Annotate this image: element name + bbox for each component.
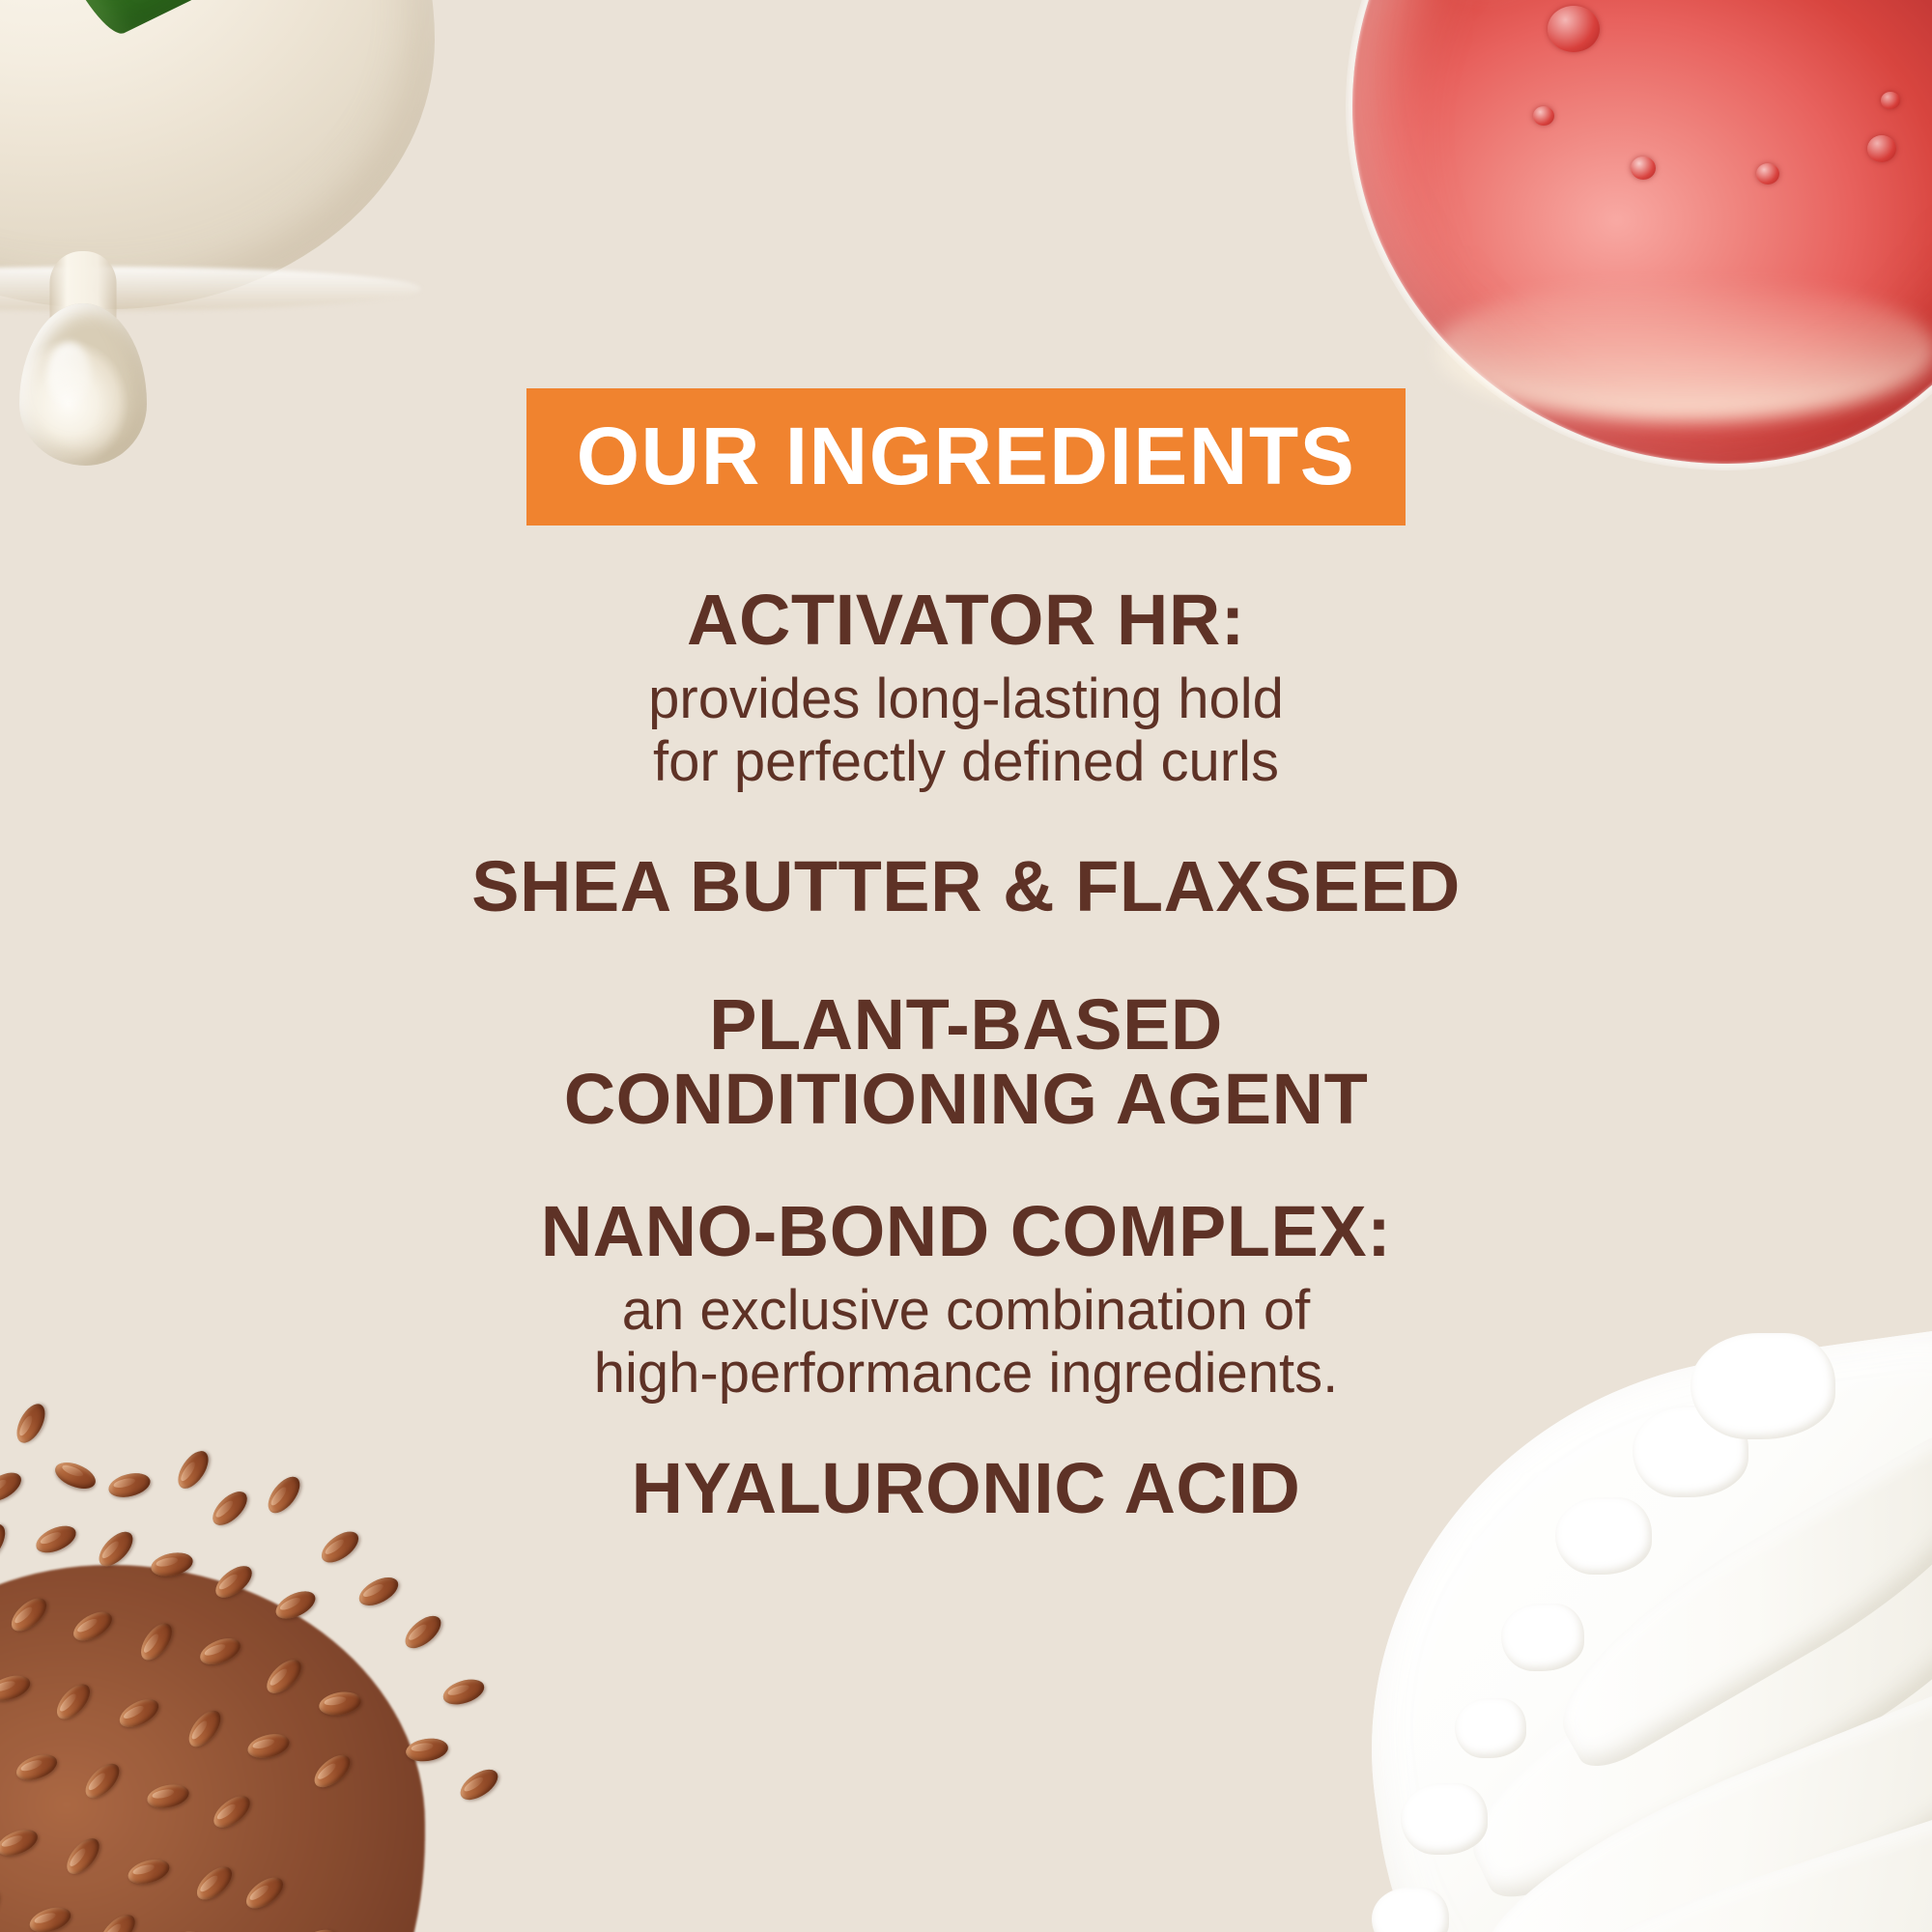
flaxseed <box>0 1671 33 1705</box>
shea-butter-crumb <box>1501 1604 1584 1671</box>
flaxseed <box>241 1871 288 1914</box>
flaxseed <box>183 1705 226 1752</box>
flaxseed <box>13 1749 60 1785</box>
shea-butter-crumb <box>1455 1698 1526 1758</box>
ingredient-description-line: for perfectly defined curls <box>0 730 1932 794</box>
flaxseed <box>209 1790 256 1833</box>
ingredient-item-hyaluronic-acid: HYALURONIC ACID <box>0 1452 1932 1526</box>
spacer <box>0 794 1932 850</box>
flaxseed <box>316 1525 363 1568</box>
flaxseed <box>79 1758 125 1804</box>
flaxseed <box>440 1675 488 1709</box>
ingredients-content: OUR INGREDIENTS ACTIVATOR HR: provides l… <box>0 0 1932 1526</box>
shea-butter-crumb <box>1372 1888 1449 1932</box>
shea-butter-swirl-shape <box>1452 1779 1932 1932</box>
flaxseed <box>261 1654 307 1699</box>
our-ingredients-banner: OUR INGREDIENTS <box>526 388 1406 526</box>
flaxseed <box>0 1885 4 1932</box>
flaxseed <box>355 1572 403 1611</box>
flaxseed <box>405 1736 450 1764</box>
ingredient-title: NANO-BOND COMPLEX: <box>0 1195 1932 1269</box>
ingredient-title-line: CONDITIONING AGENT <box>0 1063 1932 1137</box>
shea-butter-crumb <box>1401 1783 1488 1855</box>
flaxseed <box>69 1606 117 1647</box>
ingredient-title-line: PLANT-BASED <box>0 988 1932 1063</box>
flaxseed <box>149 1549 195 1580</box>
flaxseed <box>95 1909 141 1932</box>
flaxseed <box>51 1678 97 1724</box>
flaxseed <box>191 1861 238 1906</box>
ingredient-description: provides long-lasting hold for perfectly… <box>0 668 1932 794</box>
ingredient-description-line: provides long-lasting hold <box>0 668 1932 731</box>
ingredient-title: ACTIVATOR HR: <box>0 583 1932 658</box>
flaxseed <box>145 1781 191 1812</box>
ingredient-title: SHEA BUTTER & FLAXSEED <box>0 850 1932 924</box>
flaxseed <box>0 1520 11 1568</box>
flaxseed <box>271 1586 320 1625</box>
flaxseed <box>245 1730 292 1762</box>
ingredient-item-nano-bond-complex: NANO-BOND COMPLEX: an exclusive combinat… <box>0 1195 1932 1406</box>
spacer <box>0 924 1932 988</box>
spacer <box>0 1406 1932 1452</box>
ingredient-item-plant-based-conditioning-agent: PLANT-BASED CONDITIONING AGENT <box>0 988 1932 1137</box>
ingredient-description-line: an exclusive combination of <box>0 1279 1932 1343</box>
flaxseed-mound-base <box>0 1565 425 1932</box>
shea-butter-swirl-shape <box>1456 1657 1932 1932</box>
ingredient-description: an exclusive combination of high-perform… <box>0 1279 1932 1406</box>
flaxseed <box>400 1610 446 1655</box>
flaxseed <box>309 1749 355 1794</box>
ingredient-item-activator-hr: ACTIVATOR HR: provides long-lasting hold… <box>0 583 1932 794</box>
ingredient-title: PLANT-BASED CONDITIONING AGENT <box>0 988 1932 1137</box>
flaxseed <box>27 1903 74 1932</box>
flaxseed <box>0 1825 42 1861</box>
flaxseed <box>211 1560 258 1604</box>
flaxseed <box>32 1520 80 1558</box>
flaxseed <box>93 1526 138 1573</box>
flaxseed <box>162 1928 208 1932</box>
flaxseed <box>61 1833 105 1879</box>
flaxseed <box>455 1764 502 1806</box>
ingredients-list: ACTIVATOR HR: provides long-lasting hold… <box>0 583 1932 1526</box>
ingredient-description-line: high-performance ingredients. <box>0 1342 1932 1406</box>
flaxseed <box>135 1618 178 1665</box>
shea-butter-swirl-shape <box>1437 1519 1932 1912</box>
flaxseed <box>293 1924 341 1932</box>
ingredient-item-shea-butter-flaxseed: SHEA BUTTER & FLAXSEED <box>0 850 1932 924</box>
ingredient-title: HYALURONIC ACID <box>0 1452 1932 1526</box>
infographic-canvas: OUR INGREDIENTS ACTIVATOR HR: provides l… <box>0 0 1932 1932</box>
flaxseed <box>317 1689 362 1718</box>
flaxseed <box>115 1693 163 1733</box>
flaxseed <box>196 1634 243 1670</box>
flaxseed <box>126 1855 173 1888</box>
flaxseed <box>6 1592 52 1637</box>
spacer <box>0 1137 1932 1195</box>
